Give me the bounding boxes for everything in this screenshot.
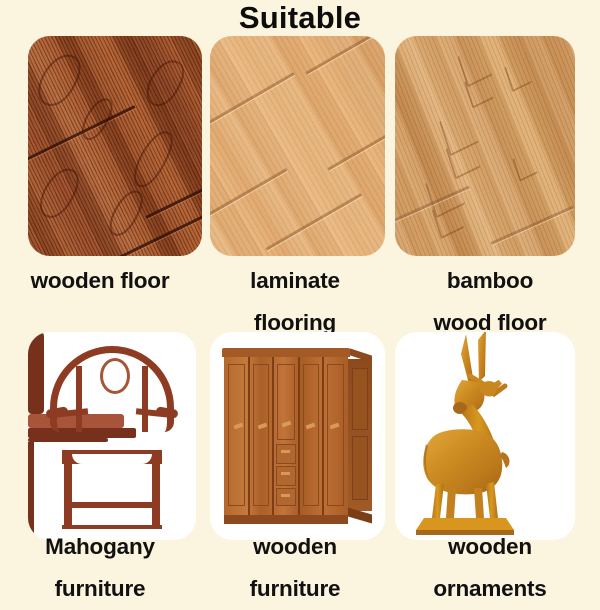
wooden-furniture-image <box>210 332 385 540</box>
grid-cell-laminate-flooring[interactable]: laminate flooring <box>200 36 390 336</box>
caption-wooden-ornaments: wooden ornaments <box>390 526 590 610</box>
dark-wood-texture <box>28 36 202 256</box>
wooden-deer-ornament-illustration <box>390 332 600 540</box>
laminate-flooring-image <box>210 36 385 256</box>
caption-wooden-furniture: wooden furniture <box>200 526 390 610</box>
caption-wooden-floor: wooden floor <box>0 260 200 302</box>
grid-cell-mahogany-furniture[interactable]: Mahogany furniture <box>0 332 200 600</box>
bamboo-wood-texture <box>395 36 575 256</box>
light-laminate-texture <box>210 36 385 256</box>
mahogany-furniture-image <box>28 332 196 540</box>
grid-cell-wooden-floor[interactable]: wooden floor <box>0 36 200 306</box>
suitable-surfaces-infographic: Suitable wooden floor <box>0 0 600 600</box>
grid-cell-wooden-ornaments[interactable]: wooden ornaments <box>390 332 600 600</box>
mahogany-armchair-illustration <box>28 332 196 540</box>
grid-cell-bamboo-wood-floor[interactable]: bamboo wood floor <box>390 36 600 336</box>
bamboo-wood-floor-image <box>395 36 575 256</box>
wooden-wardrobe-illustration <box>210 332 385 540</box>
caption-mahogany-furniture: Mahogany furniture <box>0 526 200 610</box>
wooden-floor-image <box>28 36 202 256</box>
grid-cell-wooden-furniture[interactable]: wooden furniture <box>200 332 390 600</box>
page-title: Suitable <box>0 0 600 36</box>
